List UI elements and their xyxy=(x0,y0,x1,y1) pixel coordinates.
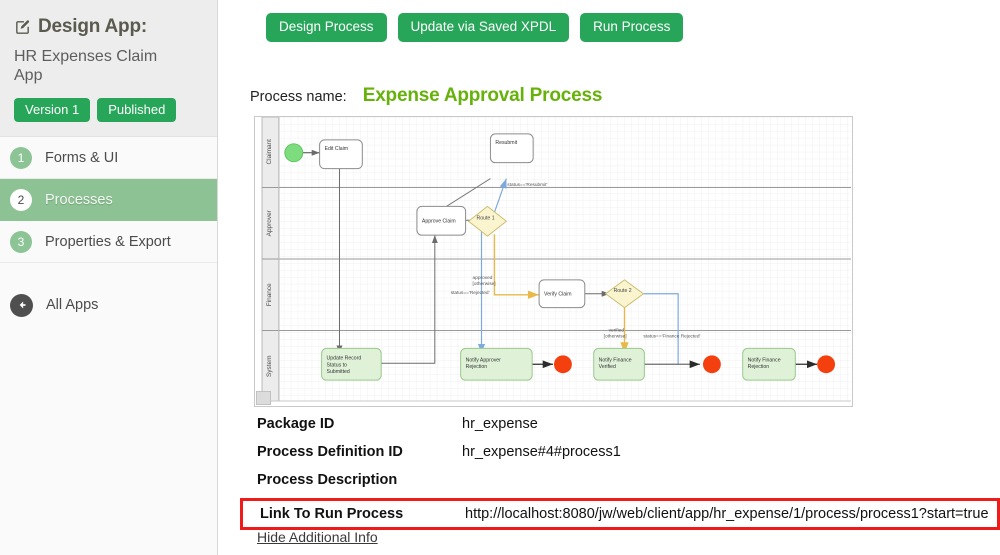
lane-label-system: System xyxy=(266,356,273,377)
node-verify-claim: Verify Claim xyxy=(539,280,585,308)
svg-text:Notify Finance: Notify Finance xyxy=(599,357,632,363)
sidebar: Design App: HR Expenses Claim App Versio… xyxy=(0,0,218,555)
lane-label-approver: Approver xyxy=(266,209,273,236)
node-start-event xyxy=(285,144,303,162)
diagram-scroll-corner[interactable] xyxy=(256,391,271,405)
svg-text:Notify Finance: Notify Finance xyxy=(748,357,781,363)
info-row-package-id: Package ID hr_expense xyxy=(240,410,1000,438)
step-number-icon: 3 xyxy=(10,231,32,253)
sidebar-nav: 1 Forms & UI 2 Processes 3 Properties & … xyxy=(0,137,217,263)
hide-additional-info-link[interactable]: Hide Additional Info xyxy=(257,529,378,545)
svg-text:Approve Claim: Approve Claim xyxy=(422,218,456,224)
process-diagram[interactable]: Claimant Approver Finance System xyxy=(254,116,853,407)
info-value: hr_expense#4#process1 xyxy=(462,444,621,460)
node-update-record-status: Update Record Status to Submitted xyxy=(322,348,382,380)
svg-text:Update Record: Update Record xyxy=(327,355,362,361)
step-number-icon: 2 xyxy=(10,189,32,211)
sidebar-header: Design App: HR Expenses Claim App Versio… xyxy=(0,0,217,137)
node-end-event-2 xyxy=(703,355,721,373)
process-name-value: Expense Approval Process xyxy=(363,85,603,107)
node-approve-claim: Approve Claim xyxy=(417,206,466,235)
process-info-table: Package ID hr_expense Process Definition… xyxy=(240,410,1000,530)
badge-version[interactable]: Version 1 xyxy=(14,98,90,122)
sidebar-item-properties-export[interactable]: 3 Properties & Export xyxy=(0,221,217,263)
process-toolbar: Design Process Update via Saved XPDL Run… xyxy=(266,13,683,42)
design-process-button[interactable]: Design Process xyxy=(266,13,387,42)
design-app-title: Design App: xyxy=(14,16,203,38)
all-apps-label: All Apps xyxy=(46,297,98,313)
sidebar-item-label: Processes xyxy=(45,192,113,208)
svg-text:Edit Claim: Edit Claim xyxy=(325,146,349,152)
badge-published[interactable]: Published xyxy=(97,98,176,122)
edge-label-approved-2: [otherwise] xyxy=(473,281,496,287)
step-number-icon: 1 xyxy=(10,147,32,169)
edge-label-rejected: status=='Rejected' xyxy=(451,290,490,296)
lane-label-claimant: Claimant xyxy=(266,139,273,165)
info-key: Package ID xyxy=(240,416,462,432)
node-notify-approver-rejection: Notify Approver Rejection xyxy=(461,348,533,380)
app-name: HR Expenses Claim App xyxy=(14,47,184,85)
edge-label-finance-rejected: status=='Finance Rejected' xyxy=(643,333,700,339)
info-row-link-to-run-process: Link To Run Process http://localhost:808… xyxy=(240,498,1000,530)
run-process-button[interactable]: Run Process xyxy=(580,13,683,42)
svg-text:Rejection: Rejection xyxy=(748,364,770,370)
edge-label-approved: approved xyxy=(473,275,493,281)
node-end-event-1 xyxy=(554,355,572,373)
back-arrow-circle-icon xyxy=(10,294,33,317)
badge-group: Version 1 Published xyxy=(14,98,203,122)
svg-text:Route 1: Route 1 xyxy=(477,215,495,221)
sidebar-item-label: Forms & UI xyxy=(45,150,118,166)
process-name-label: Process name: xyxy=(250,89,347,105)
sidebar-item-label: Properties & Export xyxy=(45,234,171,250)
info-value: hr_expense xyxy=(462,416,538,432)
sidebar-item-forms-ui[interactable]: 1 Forms & UI xyxy=(0,137,217,179)
node-notify-finance-rejection: Notify Finance Rejection xyxy=(743,348,796,380)
svg-text:Verify Claim: Verify Claim xyxy=(544,292,572,298)
info-key: Process Definition ID xyxy=(240,444,462,460)
info-key: Link To Run Process xyxy=(243,506,465,522)
svg-text:Notify Approver: Notify Approver xyxy=(466,357,502,363)
svg-text:Route 2: Route 2 xyxy=(614,288,632,294)
svg-text:Rejection: Rejection xyxy=(466,364,488,370)
design-app-title-text: Design App: xyxy=(38,16,147,38)
edge-label-verified: verified xyxy=(609,328,625,334)
node-edit-claim: Edit Claim xyxy=(320,140,363,169)
node-notify-finance-verified: Notify Finance Verified xyxy=(594,348,645,380)
run-process-link[interactable]: http://localhost:8080/jw/web/client/app/… xyxy=(465,506,989,522)
info-row-process-description: Process Description xyxy=(240,466,1000,494)
node-resubmit: Resubmit xyxy=(490,134,533,163)
info-key: Process Description xyxy=(240,472,462,488)
main-content: Design Process Update via Saved XPDL Run… xyxy=(218,0,1000,555)
edge-label-verified-2: [otherwise] xyxy=(604,333,627,339)
svg-text:Status to: Status to xyxy=(327,362,347,368)
update-via-saved-xpdl-button[interactable]: Update via Saved XPDL xyxy=(398,13,570,42)
edge-label-resubmit: status=='Resubmit' xyxy=(507,182,547,188)
all-apps-link[interactable]: All Apps xyxy=(0,283,217,327)
app-root: Design App: HR Expenses Claim App Versio… xyxy=(0,0,1000,555)
pencil-square-icon xyxy=(14,19,31,36)
lane-label-finance: Finance xyxy=(266,283,273,306)
svg-text:Verified: Verified xyxy=(599,364,616,370)
sidebar-item-processes[interactable]: 2 Processes xyxy=(0,179,217,221)
process-name-row: Process name: Expense Approval Process xyxy=(250,85,602,107)
info-row-process-definition-id: Process Definition ID hr_expense#4#proce… xyxy=(240,438,1000,466)
svg-text:Submitted: Submitted xyxy=(327,369,350,375)
node-end-event-3 xyxy=(817,355,835,373)
svg-text:Resubmit: Resubmit xyxy=(495,140,517,146)
process-diagram-canvas: Claimant Approver Finance System xyxy=(255,117,852,406)
